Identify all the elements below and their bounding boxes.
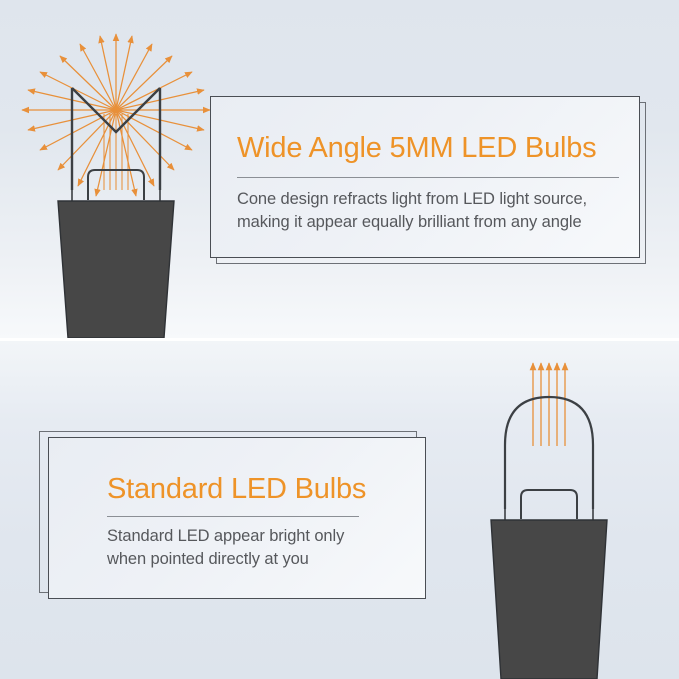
panel-standard: Standard LED Bulbs Standard LED appear b… — [0, 341, 679, 679]
callout-standard: Standard LED Bulbs Standard LED appear b… — [39, 431, 435, 607]
subline-wide-angle-line1: Cone design refracts light from LED ligh… — [237, 188, 619, 211]
callout-divider-rule-bottom — [107, 516, 359, 517]
subline-standard-line2: when pointed directly at you — [107, 548, 409, 571]
bulb-leads — [72, 190, 160, 202]
headline-wide-angle: Wide Angle 5MM LED Bulbs — [237, 131, 619, 165]
callout-wide-angle-body: Wide Angle 5MM LED Bulbs Cone design ref… — [210, 96, 640, 258]
bulb-leads — [505, 507, 593, 521]
inner-beams-group — [104, 114, 128, 190]
panel-wide-angle: Wide Angle 5MM LED Bulbs Cone design ref… — [0, 0, 679, 338]
callout-standard-body: Standard LED Bulbs Standard LED appear b… — [48, 437, 426, 599]
wide-angle-led-bulb-illustration — [14, 14, 224, 338]
infographic-root: Wide Angle 5MM LED Bulbs Cone design ref… — [0, 0, 679, 679]
callout-divider-rule-top — [237, 177, 619, 178]
subline-standard-line1: Standard LED appear bright only — [107, 525, 409, 548]
headline-standard: Standard LED Bulbs — [107, 472, 409, 506]
bulb-leg-bracket — [521, 490, 577, 519]
subline-wide-angle-line2: making it appear equally brilliant from … — [237, 211, 619, 234]
bulb-socket — [58, 201, 174, 338]
bulb-socket — [491, 520, 607, 679]
callout-wide-angle: Wide Angle 5MM LED Bulbs Cone design ref… — [210, 96, 652, 270]
standard-led-bulb-illustration — [455, 349, 655, 679]
parallel-light-rays-group — [533, 363, 565, 446]
